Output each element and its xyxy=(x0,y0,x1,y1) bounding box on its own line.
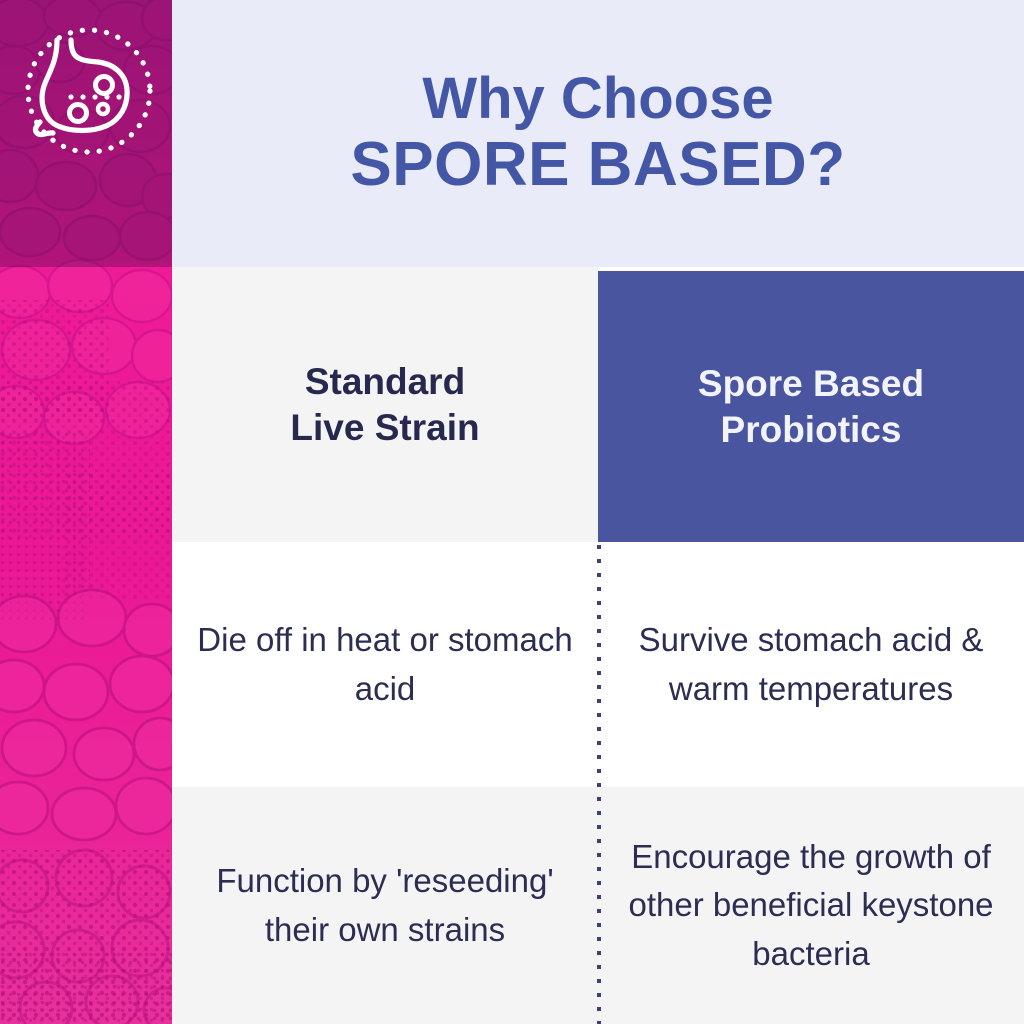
table-cell-text: Function by 'reseeding' their own strain… xyxy=(194,857,576,954)
stomach-icon-graphic xyxy=(14,16,164,166)
comparison-table: Standard Live Strain Spore Based Probiot… xyxy=(172,267,1024,1024)
column-header-spore-line-1: Spore Based xyxy=(698,361,924,406)
table-cell-standard-row-1: Die off in heat or stomach acid xyxy=(172,542,598,787)
page-title-line-1: Why Choose xyxy=(422,68,773,131)
header-band: Why Choose SPORE BASED? xyxy=(172,0,1024,267)
page-title-line-2: SPORE BASED? xyxy=(350,132,845,199)
table-cell-standard-row-2: Function by 'reseeding' their own strain… xyxy=(172,787,598,1024)
column-header-spore-label: Spore Based Probiotics xyxy=(682,361,940,451)
table-header-row: Standard Live Strain Spore Based Probiot… xyxy=(172,267,1024,542)
column-header-standard-line-1: Standard xyxy=(290,359,479,404)
table-cell-spore-row-1: Survive stomach acid & warm temperatures xyxy=(598,542,1024,787)
table-cell-text: Encourage the growth of other beneficial… xyxy=(620,833,1002,979)
column-header-spore-based-probiotics: Spore Based Probiotics xyxy=(598,271,1024,542)
bacteria-texture-panel xyxy=(0,0,172,1024)
table-cell-spore-row-2: Encourage the growth of other beneficial… xyxy=(598,787,1024,1024)
page-title: Why Choose SPORE BASED? xyxy=(172,0,1024,267)
infographic-root: Why Choose SPORE BASED? Standard Live St… xyxy=(0,0,1024,1024)
stomach-icon xyxy=(14,16,164,166)
column-divider xyxy=(597,545,601,1024)
table-cell-text: Survive stomach acid & warm temperatures xyxy=(620,616,1002,713)
table-cell-text: Die off in heat or stomach acid xyxy=(194,616,576,713)
column-header-standard-line-2: Live Strain xyxy=(290,405,479,450)
column-header-spore-line-2: Probiotics xyxy=(698,407,924,452)
column-header-standard-label: Standard Live Strain xyxy=(274,359,495,449)
column-header-standard-live-strain: Standard Live Strain xyxy=(172,267,598,542)
